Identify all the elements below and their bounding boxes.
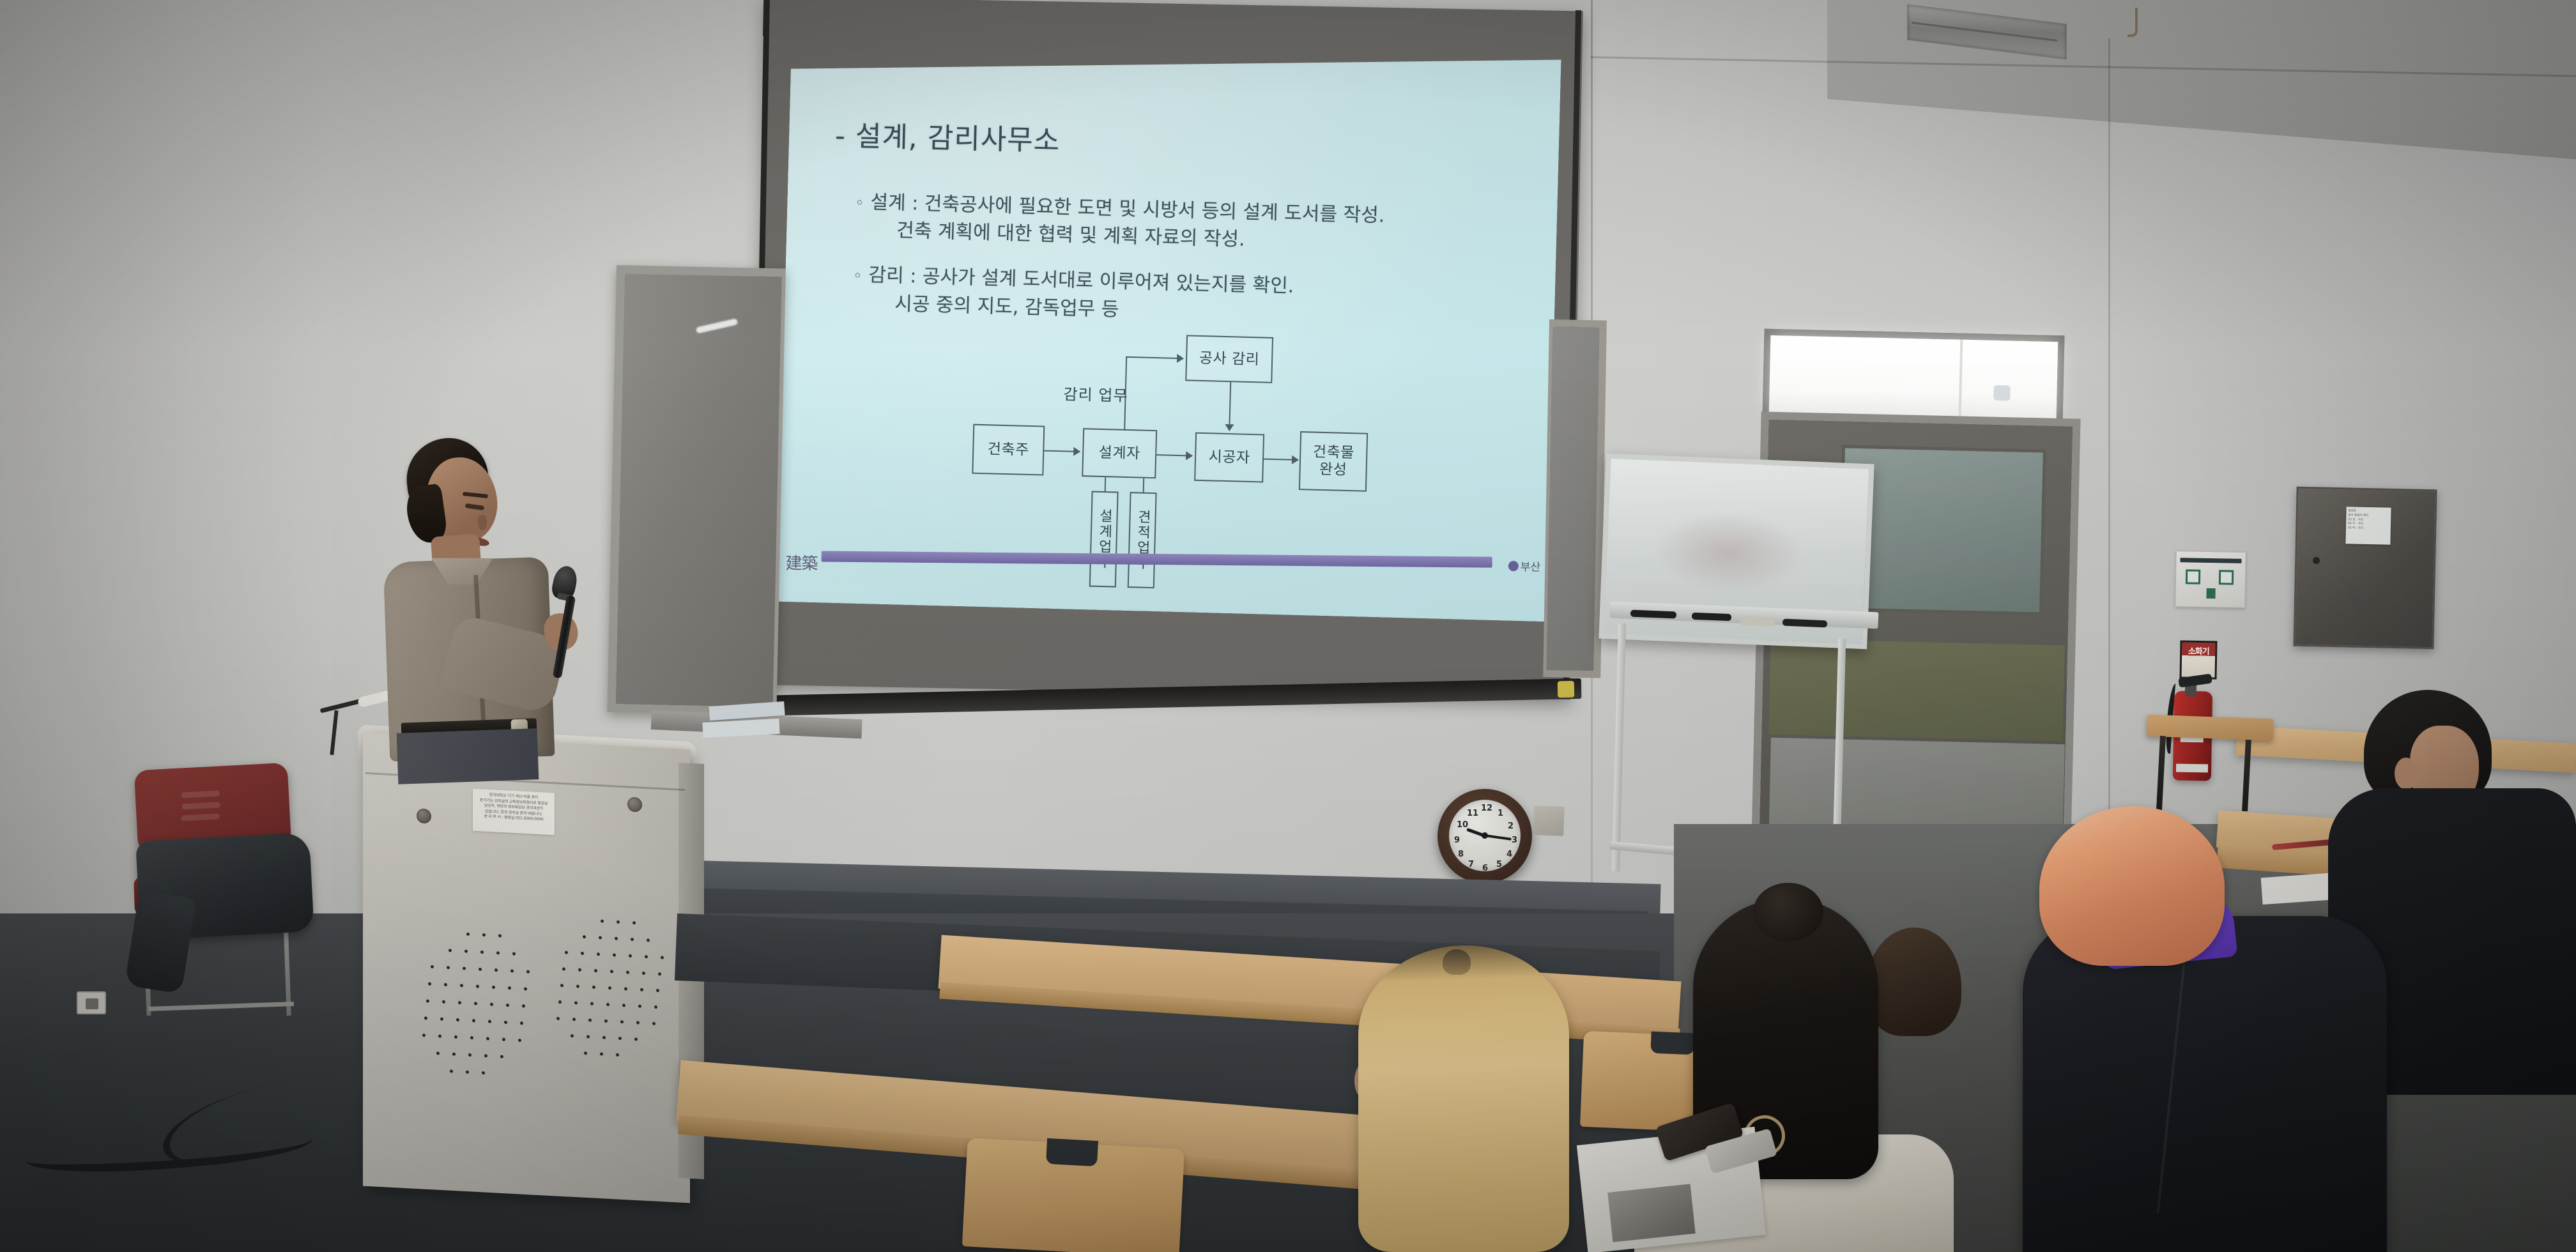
podium-speaker-grille (409, 929, 530, 1102)
flow-arrow-designer-contractor (1186, 451, 1193, 460)
speaker-perforation (512, 952, 516, 956)
speaker-perforation (586, 1035, 590, 1038)
flow-box-building: 건축물 완성 (1299, 431, 1368, 492)
clock-numeral: 4 (1506, 850, 1512, 859)
door-panel-mid (1768, 639, 2064, 741)
speaker-perforation (520, 1021, 523, 1025)
flow-box-estimate: 견적업무 (1128, 492, 1157, 588)
speaker-perforation (502, 1038, 505, 1041)
flow-box-owner: 건축주 (972, 424, 1045, 476)
speaker-perforation (460, 984, 463, 987)
speaker-perforation (634, 1037, 638, 1041)
chair-vent-slot (181, 790, 220, 798)
flow-edge-label: 감리 업무 (1063, 381, 1128, 406)
speaker-perforation (588, 1018, 592, 1021)
ceiling-hook (2127, 8, 2138, 37)
speaker-perforation (504, 1021, 507, 1024)
flow-edge-owner-designer (1044, 450, 1075, 452)
flow-edge-contractor-building (1264, 459, 1293, 461)
speaker-perforation (506, 1004, 509, 1007)
speaker-perforation (636, 1021, 640, 1024)
presenter-trousers (397, 728, 539, 784)
sign-header-bar (2181, 558, 2241, 563)
clock-numeral: 11 (1467, 809, 1478, 818)
flow-box-supervision: 공사 감리 (1185, 335, 1273, 383)
speaker-perforation (426, 999, 429, 1002)
screen-end-cap (1558, 681, 1575, 698)
speaker-perforation (456, 1018, 459, 1021)
speaker-perforation (498, 934, 502, 937)
flow-arrow-owner-designer (1073, 447, 1080, 456)
clock-numeral: 6 (1482, 864, 1488, 873)
lecture-hall-photo: - 설계, 감리사무소 설계 : 건축공사에 필요한 도면 및 시방서 등의 설… (0, 0, 2576, 1252)
student-hair-part (1443, 949, 1471, 975)
speaker-perforation (631, 938, 634, 941)
speaker-perforation (565, 951, 568, 954)
flow-edge-supervision-contractor (1229, 382, 1231, 424)
speaker-perforation (474, 1002, 477, 1005)
extinguisher-inspection-tag (2176, 764, 2208, 773)
wall-corner-right (2108, 38, 2110, 882)
wall-socket (1533, 805, 1565, 836)
cabinet-notice-paper: 점검표 일자 점검자 확인 03 김 . 사인 04 이 . 사인 05 박 .… (2345, 507, 2391, 544)
speaker-perforation (576, 984, 579, 988)
speaker-perforation (482, 933, 486, 936)
speaker-perforation (571, 1034, 574, 1037)
speaker-perforation (447, 966, 450, 969)
speaker-perforation (444, 983, 447, 986)
speaker-perforation (428, 982, 431, 986)
clock-center-pin (1482, 832, 1488, 839)
speaker-perforation (524, 987, 527, 990)
student-hair (1358, 945, 1569, 1252)
student-hair-bun (1753, 883, 1823, 942)
flow-edge-designer-supervision (1126, 356, 1178, 359)
slide-bullet: 설계 : 건축공사에 필요한 도면 및 시방서 등의 설계 도서를 작성. 건축… (854, 188, 1507, 261)
speaker-perforation (624, 987, 627, 990)
speaker-perforation (599, 936, 602, 939)
speaker-perforation (490, 1003, 493, 1006)
speaker-perforation (652, 1022, 655, 1025)
slide-flowchart: 건축주 설계자 시공자 건축물 완성 공사 감리 설계업무 견적업무 감리 (969, 330, 1436, 591)
speaker-perforation (629, 954, 632, 958)
clock-numeral: 1 (1498, 809, 1503, 818)
speaker-perforation (610, 970, 613, 973)
podium-lock-icon[interactable] (627, 797, 642, 812)
whiteboard-smudge (1652, 510, 1805, 596)
speaker-perforation (658, 972, 661, 975)
speaker-perforation (452, 1053, 456, 1056)
speaker-perforation (500, 1055, 503, 1058)
speaker-perforation (470, 1036, 473, 1039)
speaker-perforation (431, 965, 434, 968)
handout-figure (1607, 1184, 1695, 1242)
speaker-perforation (556, 1017, 560, 1020)
paper-sheet (2261, 873, 2340, 905)
flow-edge-designer-estimate (1143, 478, 1145, 494)
speaker-perforation (440, 1018, 443, 1021)
speaker-perforation (613, 953, 616, 956)
flow-box-contractor: 시공자 (1194, 432, 1264, 483)
wall-power-outlet[interactable] (77, 991, 106, 1014)
speaker-perforation (616, 1053, 619, 1057)
notice-line: 05 박 . 사인 (2348, 526, 2389, 531)
speaker-perforation (632, 921, 636, 924)
flow-box-building-line1: 건축물 완성 (1312, 444, 1354, 479)
clock-numeral: 12 (1481, 804, 1492, 813)
speaker-perforation (488, 1020, 491, 1023)
wall-board-panel (607, 265, 786, 715)
speaker-perforation (584, 1051, 587, 1055)
clock-numeral: 7 (1468, 860, 1474, 869)
evacuation-sign (2175, 551, 2246, 608)
speaker-perforation (600, 1052, 603, 1055)
projected-slide: - 설계, 감리사무소 설계 : 건축공사에 필요한 도면 및 시방서 등의 설… (777, 40, 1561, 622)
speaker-perforation (638, 1005, 641, 1008)
speaker-perforation (626, 971, 629, 974)
speaker-perforation (578, 968, 581, 972)
footer-right-text: 부산 (1520, 558, 1540, 574)
transom-glass (1769, 335, 2058, 418)
speaker-perforation (442, 1000, 445, 1004)
speaker-perforation (590, 1002, 594, 1005)
speaker-perforation (454, 1035, 457, 1039)
speaker-perforation (526, 970, 530, 973)
running-person-icon (2219, 570, 2234, 584)
speaker-perforation (448, 949, 452, 952)
speaker-perforation (647, 938, 650, 942)
speaker-perforation (486, 1037, 489, 1040)
clock-numeral: 3 (1512, 836, 1517, 845)
speaker-perforation (604, 1019, 608, 1023)
clock-numeral: 5 (1496, 860, 1502, 869)
speaker-perforation (581, 952, 584, 955)
student-hoodie (2023, 916, 2387, 1252)
eraser-icon (1740, 616, 1775, 627)
window-latch-icon (1993, 385, 2011, 401)
chair-back-notch (1650, 1032, 1694, 1055)
clock-numeral: 8 (1458, 850, 1464, 859)
flow-arrow-contractor-building (1292, 455, 1299, 464)
speaker-perforation (654, 1005, 657, 1009)
speaker-perforation (608, 986, 611, 989)
speaker-perforation (466, 933, 470, 936)
speaker-perforation (560, 984, 563, 987)
speaker-perforation (496, 951, 500, 954)
speaker-perforation (522, 1004, 525, 1007)
wall-board-panel-right (1543, 319, 1607, 678)
student-hair (2039, 806, 2225, 966)
speaker-perforation (615, 937, 618, 940)
speaker-perforation (438, 1034, 441, 1037)
slide-bullet: 감리 : 공사가 설계 도서대로 이루어져 있는지를 확인. 시공 중의 지도,… (852, 261, 1505, 333)
speaker-perforation (620, 1020, 624, 1023)
slide-title: - 설계, 감리사무소 (834, 112, 1061, 158)
chair-back-notch (1046, 1138, 1098, 1166)
speaker-perforation (606, 1003, 609, 1006)
speaker-perforation (562, 967, 565, 970)
clock-numeral: 2 (1508, 821, 1514, 831)
speaker-perforation (422, 1034, 425, 1037)
slide-footer-left-mark: 建築 (785, 550, 817, 574)
fire-extinguisher-sign-label: 소화기 (2182, 645, 2215, 657)
podium-lock-icon[interactable] (417, 808, 431, 823)
speaker-perforation (583, 935, 586, 938)
speaker-perforation (484, 1054, 487, 1057)
speaker-perforation (656, 989, 659, 992)
speaker-perforation (479, 968, 482, 971)
speaker-perforation (468, 1053, 471, 1057)
chair-vent-slot (182, 802, 220, 809)
flow-arrow-supervision-contractor (1225, 424, 1234, 431)
speaker-perforation (642, 972, 645, 975)
speaker-perforation (618, 1037, 622, 1040)
speaker-perforation (518, 1039, 521, 1042)
speaker-perforation (572, 1018, 576, 1021)
speaker-perforation (472, 1019, 475, 1022)
transom-window (1762, 329, 2064, 425)
flow-arrow-designer-supervision (1177, 354, 1184, 363)
slide-body: 설계 : 건축공사에 필요한 도면 및 시방서 등의 설계 도서를 작성. 건축… (852, 188, 1507, 351)
speaker-perforation (597, 952, 600, 956)
cabinet-latch-icon[interactable] (2313, 557, 2320, 564)
presenter-nose (478, 515, 487, 530)
speaker-perforation (508, 986, 511, 989)
speaker-perforation (464, 950, 468, 953)
flow-edge-designer-contractor (1156, 454, 1187, 456)
speaker-perforation (476, 985, 479, 988)
podium-notice-label: 한국대학교 기기 재산-비품 관리 본기기는 강의실의 교육정보화장비로 행정실… (473, 789, 555, 836)
speaker-perforation (661, 956, 664, 959)
speaker-perforation (622, 1004, 625, 1007)
podium-speaker-grille (543, 917, 671, 1083)
speaker-perforation (492, 986, 495, 989)
speaker-perforation (463, 966, 466, 970)
speaker-perforation (480, 950, 484, 954)
chair-vent-slot (181, 813, 220, 821)
slide-footer-right-mark: 부산 (1508, 558, 1540, 574)
student-ear (2395, 758, 2418, 790)
speaker-perforation (601, 919, 604, 922)
speaker-perforation (602, 1036, 606, 1039)
speaker-perforation (594, 969, 597, 972)
speaker-perforation (558, 1000, 562, 1004)
footer-dot-icon (1508, 561, 1518, 571)
fire-extinguisher-sign: 소화기 (2179, 640, 2217, 679)
speaker-perforation (450, 1069, 453, 1073)
speaker-perforation (482, 1071, 485, 1074)
speaker-perforation (645, 955, 648, 958)
speaker-perforation (458, 1001, 461, 1004)
speaker-perforation (466, 1071, 469, 1074)
speaker-perforation (510, 969, 514, 972)
speaker-perforation (640, 988, 643, 991)
exit-arrow-icon (2206, 588, 2215, 599)
speaker-perforation (574, 1001, 578, 1004)
flow-edge-designer-designwork (1105, 477, 1107, 492)
speaker-perforation (617, 920, 620, 924)
flow-box-designer: 설계자 (1082, 428, 1157, 478)
clock-numeral: 9 (1454, 836, 1460, 845)
speaker-perforation (592, 986, 595, 989)
speaker-perforation (494, 968, 498, 972)
speaker-perforation (424, 1016, 427, 1019)
exit-door-icon (2186, 569, 2200, 584)
flow-box-designwork: 설계업무 (1089, 491, 1119, 588)
speaker-perforation (436, 1051, 440, 1055)
